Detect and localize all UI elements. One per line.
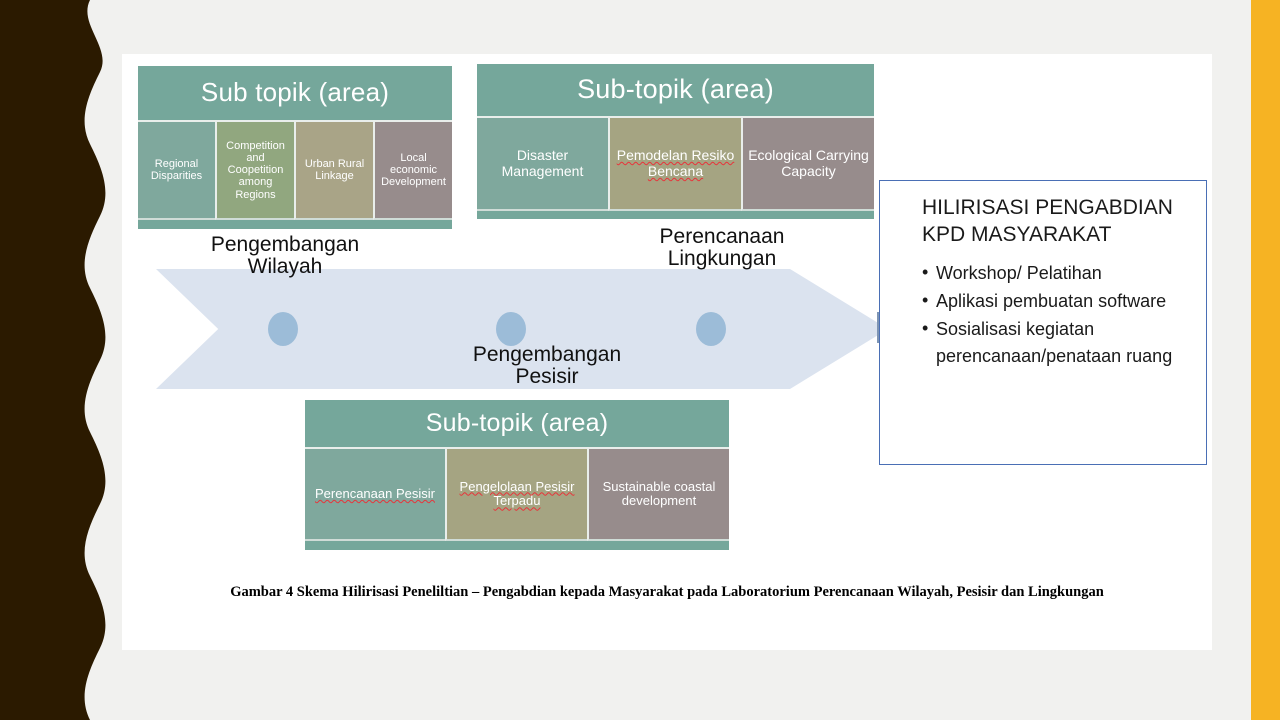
- figure-canvas: Sub topik (area) Regional Disparities Co…: [122, 54, 1212, 650]
- group-cell[interactable]: Competition and Coopetition among Region…: [215, 120, 294, 220]
- group-box-perencanaan-lingkungan: Sub-topik (area) Disaster Management Pem…: [477, 64, 874, 219]
- group-box-pengembangan-pesisir: Sub-topik (area) Perencanaan Pesisir Pen…: [305, 400, 729, 550]
- arrow-node-dot: [496, 312, 526, 346]
- group-cell[interactable]: Pengelolaan Pesisir Terpadu: [445, 447, 587, 541]
- group-cell[interactable]: Ecological Carrying Capacity: [741, 116, 874, 211]
- group-cell-row: Perencanaan Pesisir Pengelolaan Pesisir …: [305, 447, 729, 541]
- group-cell[interactable]: Pemodelan Resiko Bencana: [608, 116, 741, 211]
- group-cell[interactable]: Perencanaan Pesisir: [305, 447, 445, 541]
- outcome-list: Workshop/ Pelatihan Aplikasi pembuatan s…: [922, 260, 1202, 371]
- group-header-label: Sub topik (area): [138, 66, 452, 120]
- group-cell[interactable]: Local economic Development: [373, 120, 452, 220]
- outcome-panel-title: HILIRISASI PENGABDIAN KPD MASYARAKAT: [922, 195, 1200, 249]
- figure-caption: Gambar 4 Skema Hilirisasi Peneliltian – …: [162, 582, 1172, 603]
- group-header-label: Sub-topik (area): [305, 400, 729, 447]
- arrow-node-dot: [696, 312, 726, 346]
- group-cell-row: Regional Disparities Competition and Coo…: [138, 120, 452, 220]
- group-header-label: Sub-topik (area): [477, 64, 874, 116]
- group-cell[interactable]: Sustainable coastal development: [587, 447, 729, 541]
- group-box-pengembangan-wilayah: Sub topik (area) Regional Disparities Co…: [138, 66, 452, 229]
- group-cell[interactable]: Urban Rural Linkage: [294, 120, 373, 220]
- outcome-panel: HILIRISASI PENGABDIAN KPD MASYARAKAT Wor…: [879, 180, 1207, 465]
- arrow-node-dot: [268, 312, 298, 346]
- left-wave-decoration: [0, 0, 112, 720]
- group-cell-row: Disaster Management Pemodelan Resiko Ben…: [477, 116, 874, 211]
- arrow-label-pengembangan-wilayah: Pengembangan Wilayah: [180, 234, 390, 279]
- slide-canvas: Sub topik (area) Regional Disparities Co…: [0, 0, 1280, 720]
- arrow-label-perencanaan-lingkungan: Perencanaan Lingkungan: [622, 226, 822, 271]
- right-accent-band: [1251, 0, 1280, 720]
- list-item: Aplikasi pembuatan software: [922, 288, 1202, 315]
- arrow-label-pengembangan-pesisir: Pengembangan Pesisir: [432, 344, 662, 389]
- group-cell[interactable]: Disaster Management: [477, 116, 608, 211]
- list-item: Sosialisasi kegiatan perencanaan/penataa…: [922, 316, 1202, 370]
- group-cell[interactable]: Regional Disparities: [138, 120, 215, 220]
- list-item: Workshop/ Pelatihan: [922, 260, 1202, 287]
